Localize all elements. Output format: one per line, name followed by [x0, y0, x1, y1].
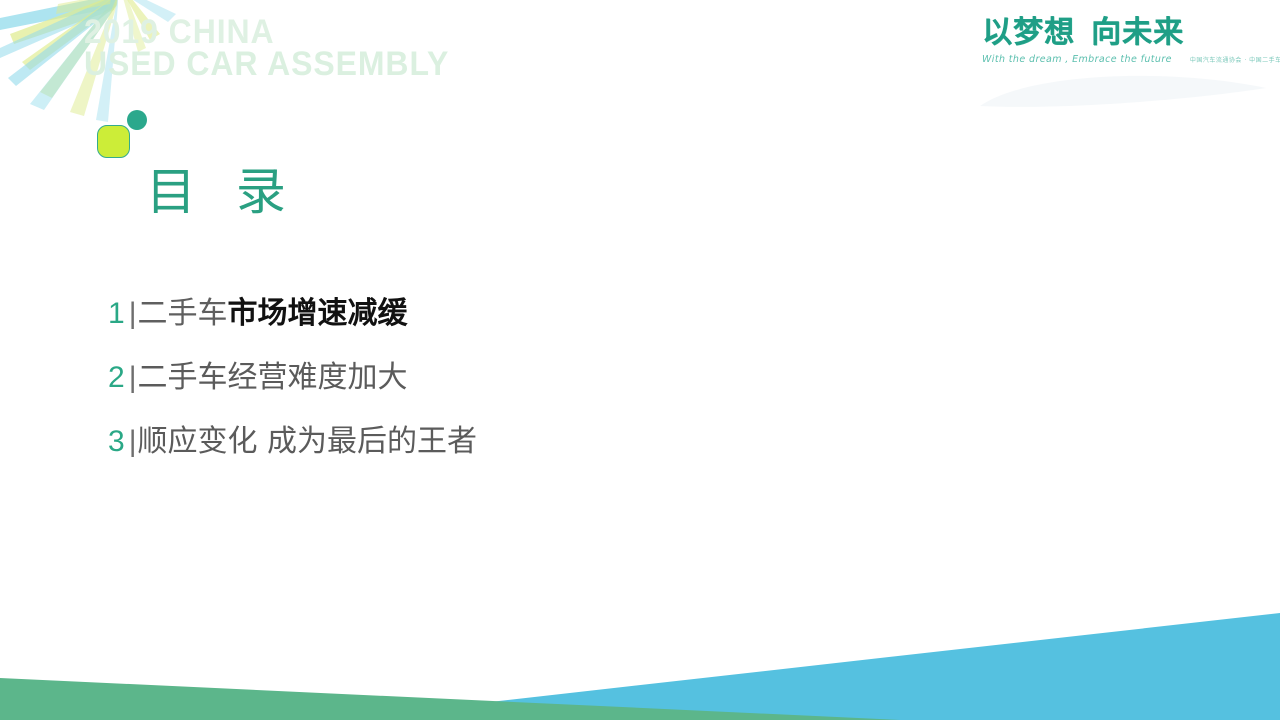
toc-item-1-number: 1	[108, 297, 125, 331]
decorative-rounded-square-icon	[97, 125, 130, 158]
logo-tagline-en: With the dream , Embrace the future	[982, 54, 1172, 65]
toc-item-1-label-strong: 市场增速减缓	[227, 288, 407, 332]
toc-item-1-separator: |	[129, 297, 137, 331]
toc-item-3-label: 顺应变化 成为最后的王者	[137, 416, 477, 460]
bottom-wedge-green	[0, 678, 900, 720]
logo-tagline: With the dream , Embrace the future中国汽车流…	[982, 54, 1242, 65]
bottom-decoration	[0, 600, 1280, 720]
bottom-wedge-blue	[330, 613, 1280, 720]
toc-item-3-number: 3	[108, 425, 125, 459]
page-title: 目 录	[146, 152, 298, 224]
toc-item-2-number: 2	[108, 361, 125, 395]
toc-item-1-label-lead: 二手车	[137, 288, 227, 332]
wordmark-line-2: USED CAR ASSEMBLY	[84, 48, 449, 80]
toc-item-2[interactable]: 2 | 二手车经营难度加大	[108, 352, 908, 396]
wordmark-line-1: 2019 CHINA	[84, 16, 449, 48]
toc-item-3[interactable]: 3 | 顺应变化 成为最后的王者	[108, 416, 908, 460]
slide-canvas: 2019 CHINA USED CAR ASSEMBLY 以梦想向未来 With…	[0, 0, 1280, 720]
decorative-dot-icon	[127, 110, 147, 130]
toc-item-3-separator: |	[129, 425, 137, 459]
toc-item-1[interactable]: 1 | 二手车 市场增速减缓	[108, 288, 908, 332]
event-wordmark: 2019 CHINA USED CAR ASSEMBLY	[84, 16, 449, 81]
logo-shadow-swoosh	[970, 66, 1270, 116]
logo-tagline-cn: 中国汽车流通协会 · 中国二手车大会	[1190, 55, 1280, 64]
toc-item-2-label: 二手车经营难度加大	[137, 352, 407, 396]
logo-slogan: 以梦想向未来	[982, 16, 1242, 51]
toc-item-2-separator: |	[129, 361, 137, 395]
brand-logo: 以梦想向未来 With the dream , Embrace the futu…	[982, 16, 1242, 65]
logo-slogan-left: 以梦想	[982, 15, 1075, 50]
logo-slogan-right: 向未来	[1091, 15, 1184, 50]
table-of-contents: 1 | 二手车 市场增速减缓 2 | 二手车经营难度加大 3 | 顺应变化 成为…	[108, 288, 908, 480]
